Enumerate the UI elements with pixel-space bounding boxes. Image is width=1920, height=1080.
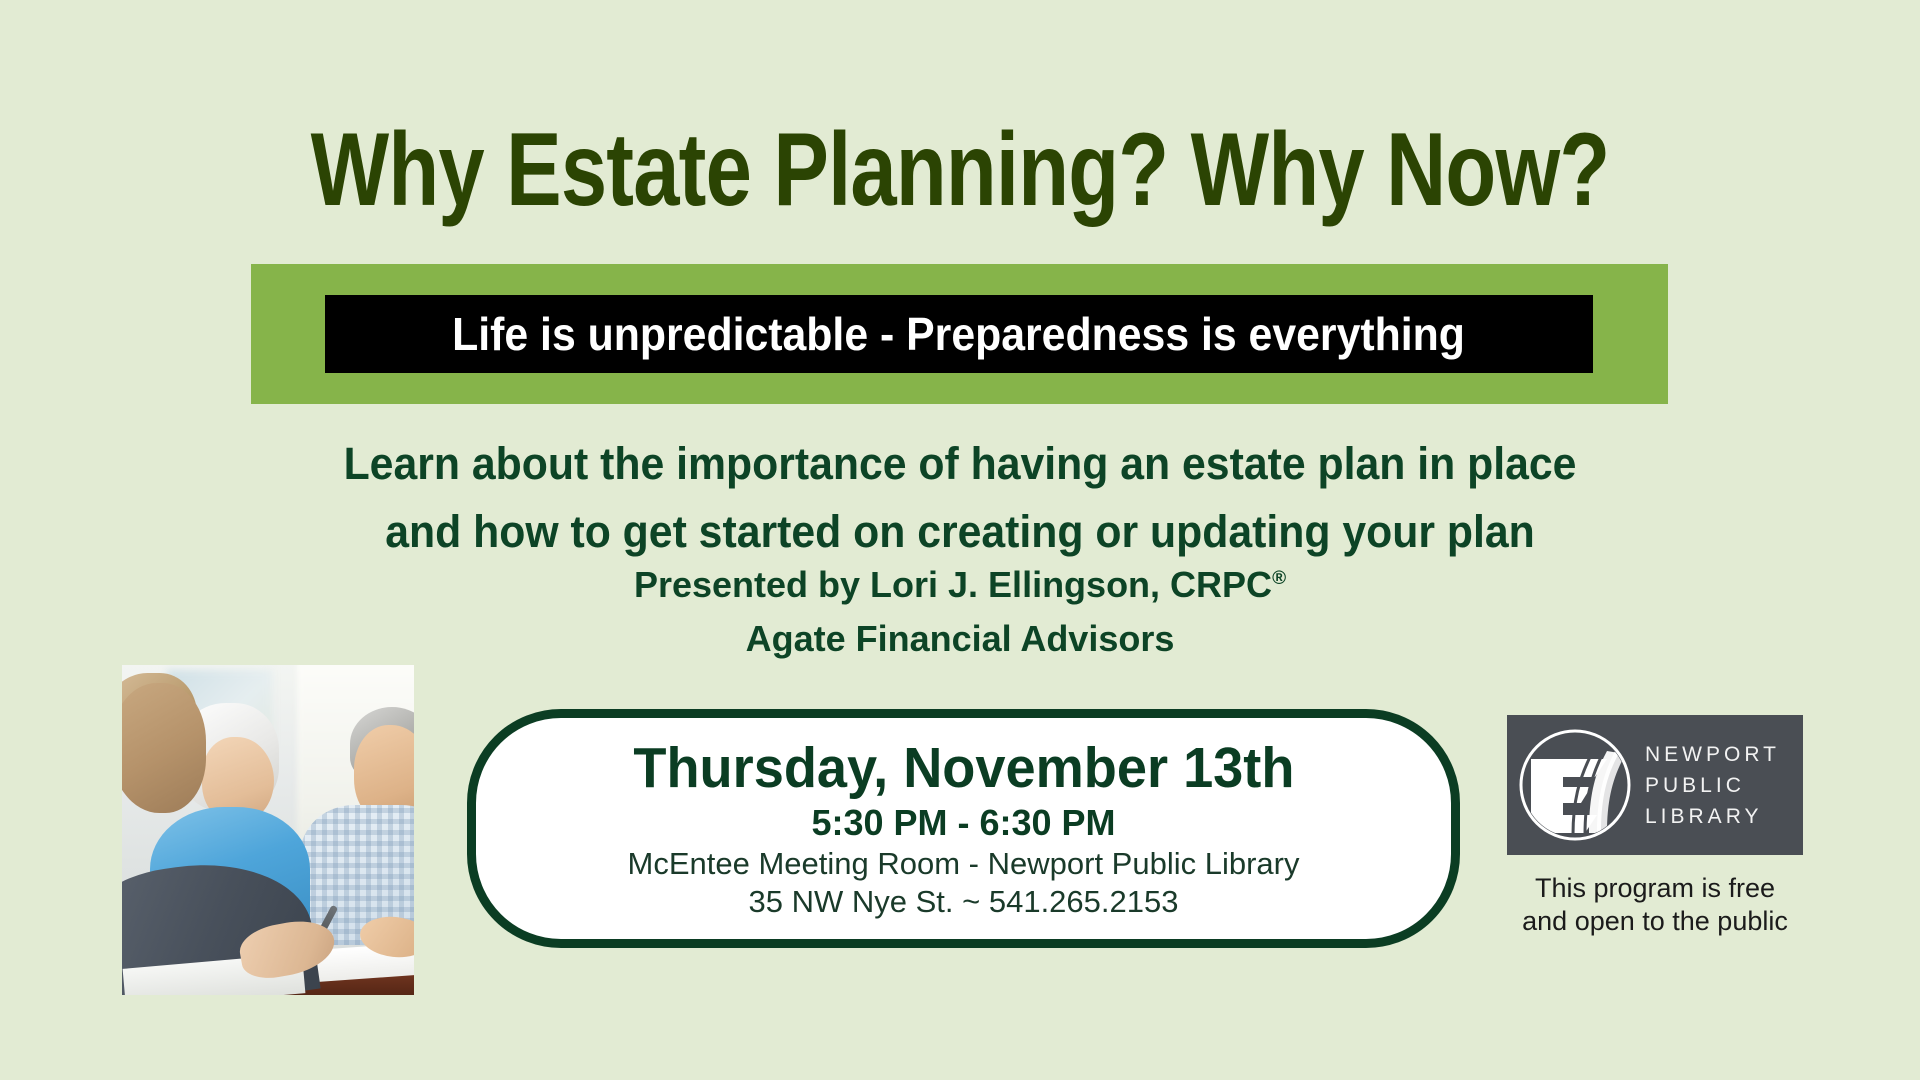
library-logo-wordmark: NEWPORT PUBLIC LIBRARY [1645, 739, 1780, 832]
subtitle-line-1: Learn about the importance of having an … [48, 430, 1872, 498]
page-title: Why Estate Planning? Why Now? [192, 118, 1728, 222]
photo-advisor-head [122, 683, 206, 813]
library-emblem-icon [1511, 721, 1639, 849]
tagline-banner: Life is unpredictable - Preparedness is … [325, 295, 1593, 373]
presenter-name: Presented by Lori J. Ellingson, CRPC® [0, 558, 1920, 612]
caption-line-2: and open to the public [1490, 905, 1820, 938]
subtitle-line-2: and how to get started on creating or up… [48, 498, 1872, 566]
event-time: 5:30 PM - 6:30 PM [811, 800, 1115, 845]
meeting-photo [122, 665, 414, 995]
library-logo: NEWPORT PUBLIC LIBRARY [1507, 715, 1803, 855]
logo-line-3: LIBRARY [1645, 801, 1780, 832]
event-address: 35 NW Nye St. ~ 541.265.2153 [749, 883, 1179, 921]
registered-mark: ® [1272, 568, 1286, 589]
logo-line-1: NEWPORT [1645, 739, 1780, 770]
caption-line-1: This program is free [1490, 872, 1820, 905]
event-date: Thursday, November 13th [633, 736, 1294, 800]
event-venue: McEntee Meeting Room - Newport Public Li… [628, 845, 1300, 883]
presenter-organization: Agate Financial Advisors [0, 612, 1920, 666]
flyer-canvas: Why Estate Planning? Why Now? Life is un… [0, 0, 1920, 1080]
presenter-name-text: Presented by Lori J. Ellingson, CRPC [634, 564, 1272, 605]
tagline-text: Life is unpredictable - Preparedness is … [453, 307, 1466, 361]
event-details-box: Thursday, November 13th 5:30 PM - 6:30 P… [467, 709, 1460, 948]
subtitle-block: Learn about the importance of having an … [0, 430, 1920, 566]
logo-line-2: PUBLIC [1645, 770, 1780, 801]
free-program-caption: This program is free and open to the pub… [1490, 872, 1820, 938]
presenter-block: Presented by Lori J. Ellingson, CRPC® Ag… [0, 558, 1920, 666]
